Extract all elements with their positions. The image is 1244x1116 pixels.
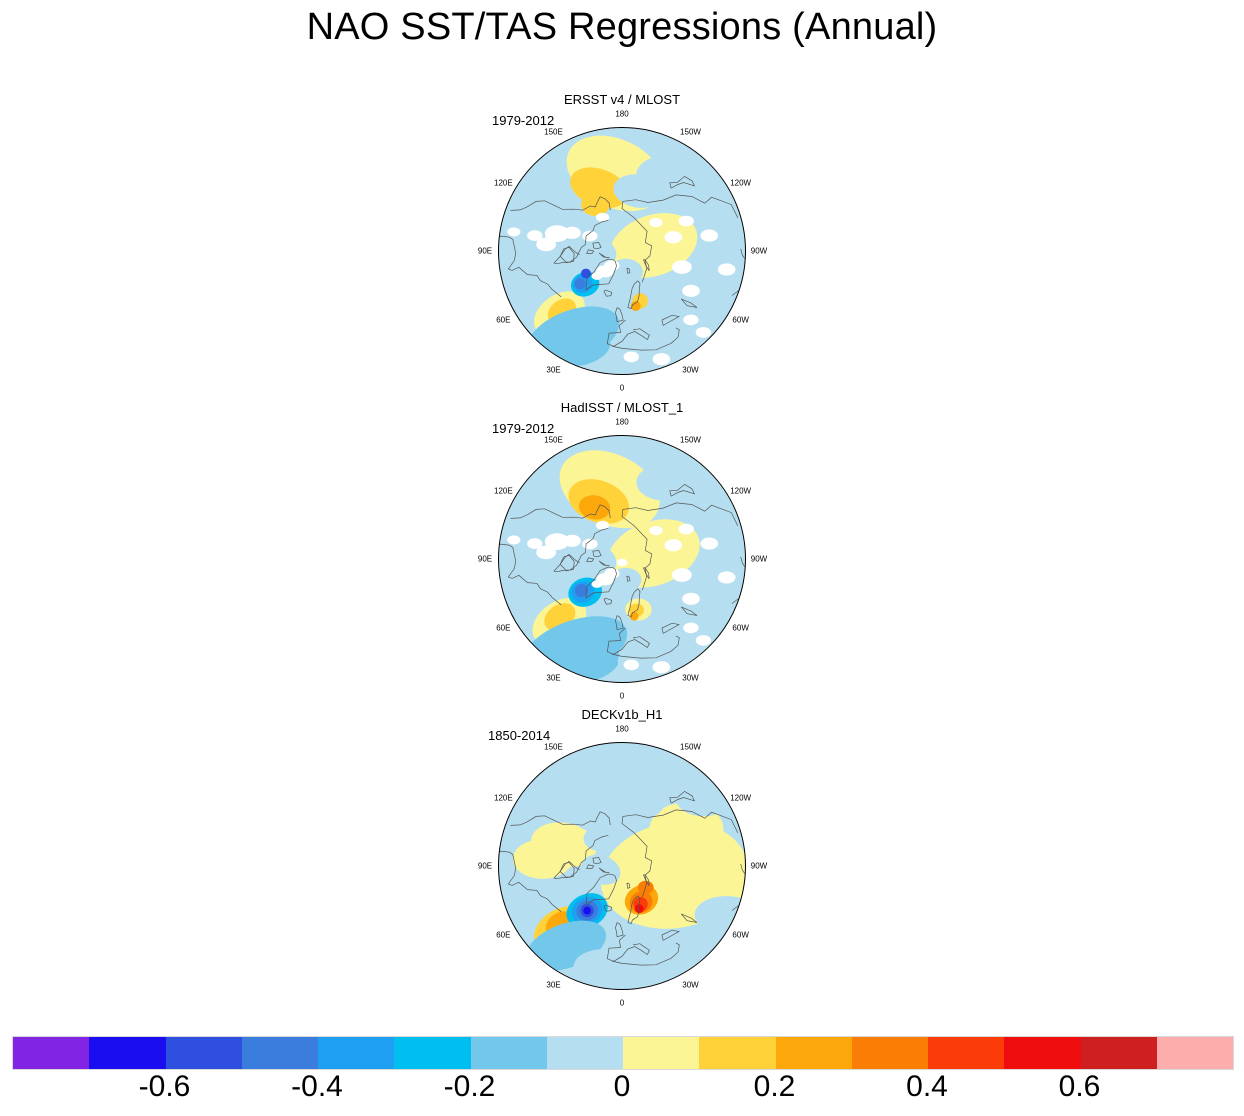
lon-label-120E: 120E bbox=[494, 793, 513, 802]
lon-label-90W: 90W bbox=[751, 862, 767, 871]
colorbar-block-14 bbox=[1081, 1037, 1157, 1069]
colorbar-block-5 bbox=[394, 1037, 470, 1069]
colorbar-block-15 bbox=[1157, 1037, 1233, 1069]
panel-3-title: DECKv1b_H1 bbox=[0, 707, 1244, 722]
lon-label-90W: 90W bbox=[751, 247, 767, 256]
missing-data-mask bbox=[563, 227, 581, 239]
map-projection-2 bbox=[498, 435, 746, 683]
colorbar-block-10 bbox=[776, 1037, 852, 1069]
missing-data-mask bbox=[718, 263, 736, 275]
colorbar-tick-0: 0 bbox=[614, 1070, 631, 1104]
lon-label-150W: 150W bbox=[680, 128, 701, 137]
globe-panel-2 bbox=[498, 435, 746, 683]
lon-label-90E: 90E bbox=[478, 862, 492, 871]
lon-label-180: 180 bbox=[615, 418, 628, 427]
colorbar-block-1 bbox=[89, 1037, 165, 1069]
colorbar-tick-0.6: 0.6 bbox=[1059, 1070, 1101, 1104]
lon-label-60E: 60E bbox=[496, 930, 510, 939]
map-projection-1 bbox=[498, 127, 746, 375]
lon-label-30W: 30W bbox=[682, 980, 698, 989]
missing-data-mask bbox=[591, 580, 602, 588]
lon-label-120W: 120W bbox=[730, 793, 751, 802]
lon-label-180: 180 bbox=[615, 110, 628, 119]
colorbar-tick-0.2: 0.2 bbox=[754, 1070, 796, 1104]
colorbar-tick-0.4: 0.4 bbox=[906, 1070, 948, 1104]
colorbar-block-2 bbox=[166, 1037, 242, 1069]
figure-title: NAO SST/TAS Regressions (Annual) bbox=[0, 6, 1244, 49]
missing-data-mask bbox=[672, 260, 692, 274]
missing-data-mask bbox=[617, 559, 628, 567]
lon-label-120W: 120W bbox=[730, 178, 751, 187]
globe-panel-3 bbox=[498, 742, 746, 990]
missing-data-mask bbox=[563, 535, 581, 547]
colorbar-tick--0.4: -0.4 bbox=[291, 1070, 343, 1104]
figure-canvas: NAO SST/TAS Regressions (Annual) ERSST v… bbox=[0, 0, 1244, 1116]
lon-label-30W: 30W bbox=[682, 365, 698, 374]
panel-2-period: 1979-2012 bbox=[492, 421, 554, 436]
panel-1-period: 1979-2012 bbox=[492, 113, 554, 128]
lon-label-150E: 150E bbox=[544, 743, 563, 752]
missing-data-mask bbox=[683, 315, 698, 326]
missing-data-mask bbox=[679, 216, 694, 227]
lon-label-30W: 30W bbox=[682, 673, 698, 682]
missing-data-mask bbox=[582, 231, 597, 242]
missing-data-mask bbox=[665, 539, 683, 551]
lon-label-90E: 90E bbox=[478, 247, 492, 256]
lon-label-150W: 150W bbox=[680, 743, 701, 752]
missing-data-mask bbox=[624, 660, 639, 671]
lon-label-0: 0 bbox=[620, 384, 624, 393]
lon-label-120W: 120W bbox=[730, 486, 751, 495]
missing-data-mask bbox=[527, 538, 542, 549]
missing-data-mask bbox=[649, 218, 662, 227]
colorbar-block-3 bbox=[242, 1037, 318, 1069]
missing-data-mask bbox=[700, 230, 718, 242]
globe-panel-1 bbox=[498, 127, 746, 375]
colorbar-tick-labels: -0.6-0.4-0.200.20.40.6 bbox=[0, 1070, 1244, 1114]
lon-label-30E: 30E bbox=[546, 980, 560, 989]
missing-data-mask bbox=[696, 635, 711, 646]
missing-data-mask bbox=[682, 593, 700, 605]
lon-label-0: 0 bbox=[620, 999, 624, 1008]
lon-label-60W: 60W bbox=[732, 315, 748, 324]
colorbar-block-6 bbox=[471, 1037, 547, 1069]
anomaly-blob bbox=[581, 269, 591, 279]
missing-data-mask bbox=[507, 535, 520, 544]
missing-data-mask bbox=[604, 568, 619, 579]
missing-data-mask bbox=[649, 526, 662, 535]
anomaly-blob bbox=[581, 194, 610, 216]
lon-label-120E: 120E bbox=[494, 486, 513, 495]
missing-data-mask bbox=[672, 568, 692, 582]
lon-label-30E: 30E bbox=[546, 673, 560, 682]
lon-label-30E: 30E bbox=[546, 365, 560, 374]
missing-data-mask bbox=[665, 231, 683, 243]
colorbar-block-8 bbox=[623, 1037, 699, 1069]
lon-label-150E: 150E bbox=[544, 436, 563, 445]
anomaly-blob bbox=[583, 827, 614, 851]
lon-label-60E: 60E bbox=[496, 623, 510, 632]
map-projection-3 bbox=[498, 742, 746, 990]
missing-data-mask bbox=[591, 272, 602, 280]
missing-data-mask bbox=[683, 623, 698, 634]
lon-label-0: 0 bbox=[620, 692, 624, 701]
colorbar bbox=[12, 1036, 1234, 1070]
missing-data-mask bbox=[696, 327, 711, 338]
missing-data-mask bbox=[604, 260, 619, 271]
missing-data-mask bbox=[718, 571, 736, 583]
anomaly-blob bbox=[513, 839, 572, 879]
lon-label-90W: 90W bbox=[751, 555, 767, 564]
colorbar-block-4 bbox=[318, 1037, 394, 1069]
missing-data-mask bbox=[527, 230, 542, 241]
missing-data-mask bbox=[624, 352, 639, 363]
lon-label-60E: 60E bbox=[496, 315, 510, 324]
lon-label-90E: 90E bbox=[478, 555, 492, 564]
missing-data-mask bbox=[682, 285, 700, 297]
lon-label-150E: 150E bbox=[544, 128, 563, 137]
missing-data-mask bbox=[507, 227, 520, 236]
missing-data-mask bbox=[653, 353, 671, 365]
panel-3-period: 1850-2014 bbox=[488, 728, 550, 743]
lon-label-60W: 60W bbox=[732, 930, 748, 939]
panel-2-title: HadISST / MLOST_1 bbox=[0, 400, 1244, 415]
anomaly-blob bbox=[575, 278, 586, 289]
panel-1-title: ERSST v4 / MLOST bbox=[0, 92, 1244, 107]
lon-label-180: 180 bbox=[615, 725, 628, 734]
missing-data-mask bbox=[582, 539, 597, 550]
missing-data-mask bbox=[700, 538, 718, 550]
colorbar-tick--0.2: -0.2 bbox=[444, 1070, 496, 1104]
colorbar-block-0 bbox=[13, 1037, 89, 1069]
colorbar-block-9 bbox=[699, 1037, 775, 1069]
colorbar-block-7 bbox=[547, 1037, 623, 1069]
missing-data-mask bbox=[653, 661, 671, 673]
missing-data-mask bbox=[679, 524, 694, 535]
colorbar-block-13 bbox=[1004, 1037, 1080, 1069]
lon-label-120E: 120E bbox=[494, 178, 513, 187]
colorbar-block-11 bbox=[852, 1037, 928, 1069]
colorbar-tick--0.6: -0.6 bbox=[139, 1070, 191, 1104]
colorbar-block-12 bbox=[928, 1037, 1004, 1069]
lon-label-150W: 150W bbox=[680, 436, 701, 445]
lon-label-60W: 60W bbox=[732, 623, 748, 632]
